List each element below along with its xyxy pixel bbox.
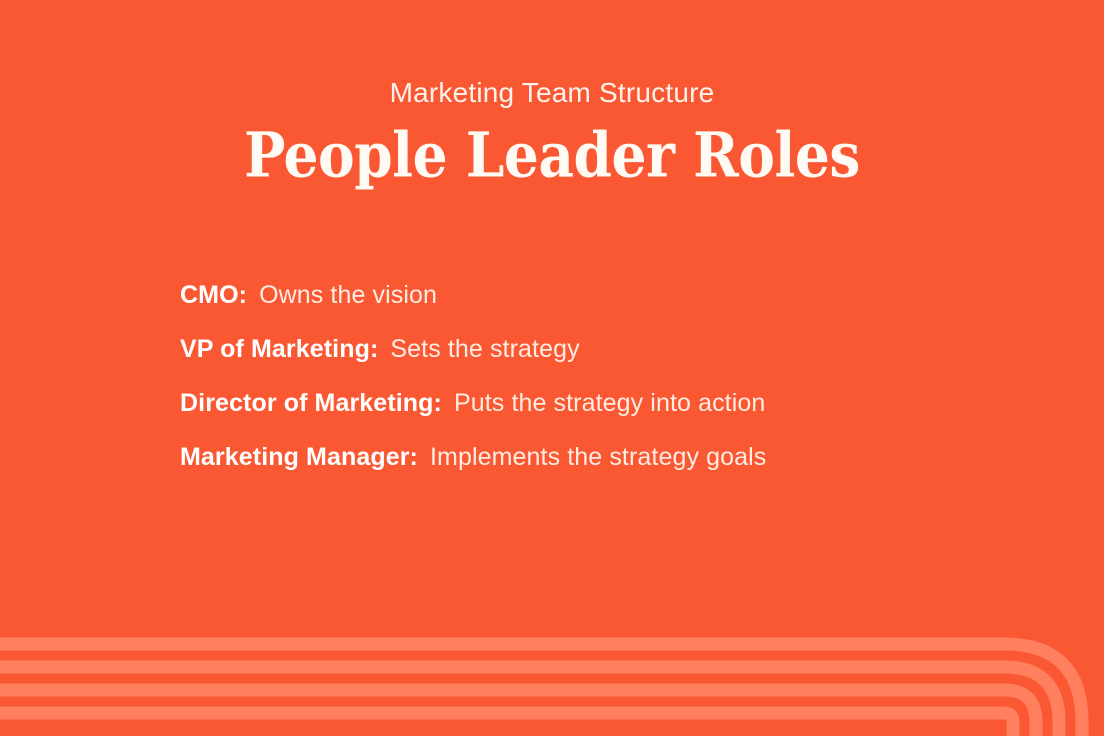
slide-canvas: Marketing Team Structure People Leader R… [0, 0, 1104, 736]
role-label: VP of Marketing: [180, 335, 378, 364]
roles-list: CMO: Owns the vision VP of Marketing: Se… [180, 281, 1060, 497]
role-description: Puts the strategy into action [442, 389, 765, 418]
role-label: Director of Marketing: [180, 389, 442, 418]
role-label: Marketing Manager: [180, 443, 418, 472]
role-description: Owns the vision [247, 281, 437, 310]
list-item: VP of Marketing: Sets the strategy [180, 335, 1060, 389]
role-label: CMO: [180, 281, 247, 310]
decorative-arc-stripes [0, 616, 1104, 736]
page-title: People Leader Roles [0, 107, 1104, 187]
list-item: Marketing Manager: Implements the strate… [180, 443, 1060, 497]
arc-stripes-icon [0, 616, 1104, 736]
slide-header: Marketing Team Structure People Leader R… [0, 0, 1104, 179]
eyebrow-text: Marketing Team Structure [0, 79, 1104, 107]
role-description: Implements the strategy goals [418, 443, 766, 472]
list-item: Director of Marketing: Puts the strategy… [180, 389, 1060, 443]
list-item: CMO: Owns the vision [180, 281, 1060, 335]
role-description: Sets the strategy [378, 335, 579, 364]
